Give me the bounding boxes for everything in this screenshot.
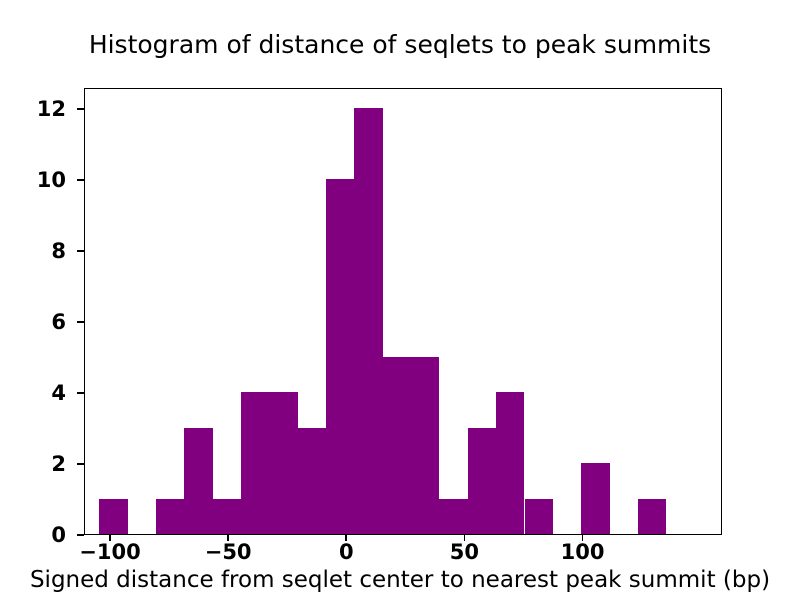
histogram-bar <box>439 499 467 534</box>
histogram-bar <box>241 392 269 534</box>
y-tick-label: 10 <box>6 170 66 191</box>
y-tick-mark <box>77 321 84 323</box>
x-axis-label: Signed distance from seqlet center to ne… <box>0 566 800 594</box>
y-tick-label: 4 <box>6 383 66 404</box>
x-tick-label: 0 <box>286 540 406 564</box>
y-tick-label: 8 <box>6 241 66 262</box>
y-tick-mark <box>77 534 84 536</box>
histogram-bar <box>383 357 411 534</box>
y-tick-label: 6 <box>6 312 66 333</box>
page-title: Histogram of distance of seqlets to peak… <box>0 30 800 60</box>
x-tick-label: 100 <box>523 540 643 564</box>
y-tick-mark <box>77 108 84 110</box>
histogram-bar <box>581 463 609 534</box>
plot-area <box>84 88 722 535</box>
histogram-bar <box>354 108 382 534</box>
y-tick-mark <box>77 179 84 181</box>
histogram-bar <box>468 428 496 534</box>
histogram-bar <box>269 392 297 534</box>
y-tick-label: 12 <box>6 99 66 120</box>
y-tick-mark <box>77 463 84 465</box>
histogram-bar <box>213 499 241 534</box>
histogram-bar <box>326 179 354 534</box>
y-tick-label: 2 <box>6 454 66 475</box>
y-tick-mark <box>77 392 84 394</box>
histogram-bar <box>184 428 212 534</box>
histogram-bar <box>411 357 439 534</box>
histogram-bar <box>496 392 524 534</box>
histogram-bar <box>525 499 553 534</box>
histogram-figure: Histogram of distance of seqlets to peak… <box>0 0 800 600</box>
histogram-bars <box>85 89 721 534</box>
histogram-bar <box>99 499 127 534</box>
histogram-bar <box>638 499 666 534</box>
histogram-bar <box>156 499 184 534</box>
y-tick-mark <box>77 250 84 252</box>
x-tick-label: −100 <box>50 540 170 564</box>
x-tick-label: 50 <box>404 540 524 564</box>
histogram-bar <box>298 428 326 534</box>
x-tick-label: −50 <box>168 540 288 564</box>
